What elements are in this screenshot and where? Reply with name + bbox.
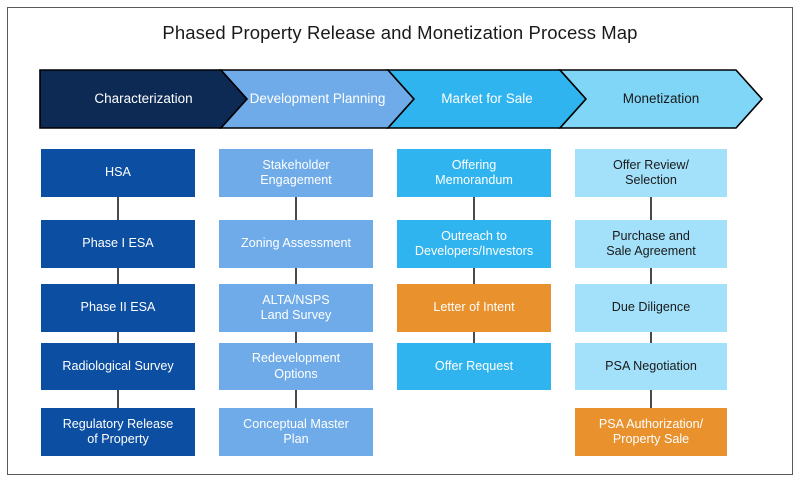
- process-node[interactable]: PSA Negotiation: [575, 343, 727, 390]
- node-connector: [473, 332, 475, 343]
- node-connector: [295, 268, 297, 284]
- process-node-label: PSA Authorization/Property Sale: [579, 417, 723, 448]
- page-title: Phased Property Release and Monetization…: [0, 22, 800, 44]
- process-node[interactable]: Phase II ESA: [41, 284, 195, 332]
- process-node-label: Radiological Survey: [45, 359, 191, 374]
- node-connector: [295, 332, 297, 343]
- process-node[interactable]: ALTA/NSPSLand Survey: [219, 284, 373, 332]
- process-node[interactable]: Radiological Survey: [41, 343, 195, 390]
- node-connector: [650, 197, 652, 220]
- node-connector: [473, 197, 475, 220]
- node-connector: [473, 268, 475, 284]
- process-node[interactable]: Letter of Intent: [397, 284, 551, 332]
- process-node-label: PSA Negotiation: [579, 359, 723, 374]
- process-node[interactable]: Zoning Assessment: [219, 220, 373, 268]
- process-node-label: Phase I ESA: [45, 236, 191, 251]
- chevron-phase-4[interactable]: [560, 70, 762, 128]
- chevron-phase-1[interactable]: [40, 70, 247, 128]
- process-node[interactable]: Outreach toDevelopers/Investors: [397, 220, 551, 268]
- node-connector: [117, 197, 119, 220]
- process-node[interactable]: Purchase andSale Agreement: [575, 220, 727, 268]
- node-connector: [650, 332, 652, 343]
- process-node-label: Conceptual MasterPlan: [223, 417, 369, 448]
- process-node-label: Due Diligence: [579, 300, 723, 315]
- process-node-label: Zoning Assessment: [223, 236, 369, 251]
- chevron-phase-3[interactable]: [388, 70, 586, 128]
- process-node[interactable]: Due Diligence: [575, 284, 727, 332]
- process-node[interactable]: Offer Review/Selection: [575, 149, 727, 197]
- process-node-label: Regulatory Releaseof Property: [45, 417, 191, 448]
- process-node-label: Offer Request: [401, 359, 547, 374]
- node-connector: [650, 390, 652, 408]
- process-node[interactable]: Regulatory Releaseof Property: [41, 408, 195, 456]
- process-node[interactable]: Phase I ESA: [41, 220, 195, 268]
- chevron-phase-2[interactable]: [221, 70, 414, 128]
- process-node-label: Letter of Intent: [401, 300, 547, 315]
- process-node-label: OfferingMemorandum: [401, 158, 547, 189]
- process-node[interactable]: PSA Authorization/Property Sale: [575, 408, 727, 456]
- process-node[interactable]: RedevelopmentOptions: [219, 343, 373, 390]
- node-connector: [295, 197, 297, 220]
- process-node-label: ALTA/NSPSLand Survey: [223, 293, 369, 324]
- phase-banner: CharacterizationDevelopment PlanningMark…: [40, 70, 762, 128]
- process-node[interactable]: HSA: [41, 149, 195, 197]
- process-node-label: HSA: [45, 165, 191, 180]
- process-node-label: Purchase andSale Agreement: [579, 229, 723, 260]
- process-node[interactable]: Offer Request: [397, 343, 551, 390]
- process-map-canvas: Phased Property Release and Monetization…: [0, 0, 800, 482]
- process-node-label: Outreach toDevelopers/Investors: [401, 229, 547, 260]
- node-connector: [117, 332, 119, 343]
- node-connector: [295, 390, 297, 408]
- process-node-label: Offer Review/Selection: [579, 158, 723, 189]
- process-node[interactable]: OfferingMemorandum: [397, 149, 551, 197]
- node-connector: [117, 390, 119, 408]
- process-node[interactable]: Conceptual MasterPlan: [219, 408, 373, 456]
- node-connector: [117, 268, 119, 284]
- process-node-label: Phase II ESA: [45, 300, 191, 315]
- process-node-label: RedevelopmentOptions: [223, 351, 369, 382]
- node-connector: [650, 268, 652, 284]
- process-node-label: StakeholderEngagement: [223, 158, 369, 189]
- process-node[interactable]: StakeholderEngagement: [219, 149, 373, 197]
